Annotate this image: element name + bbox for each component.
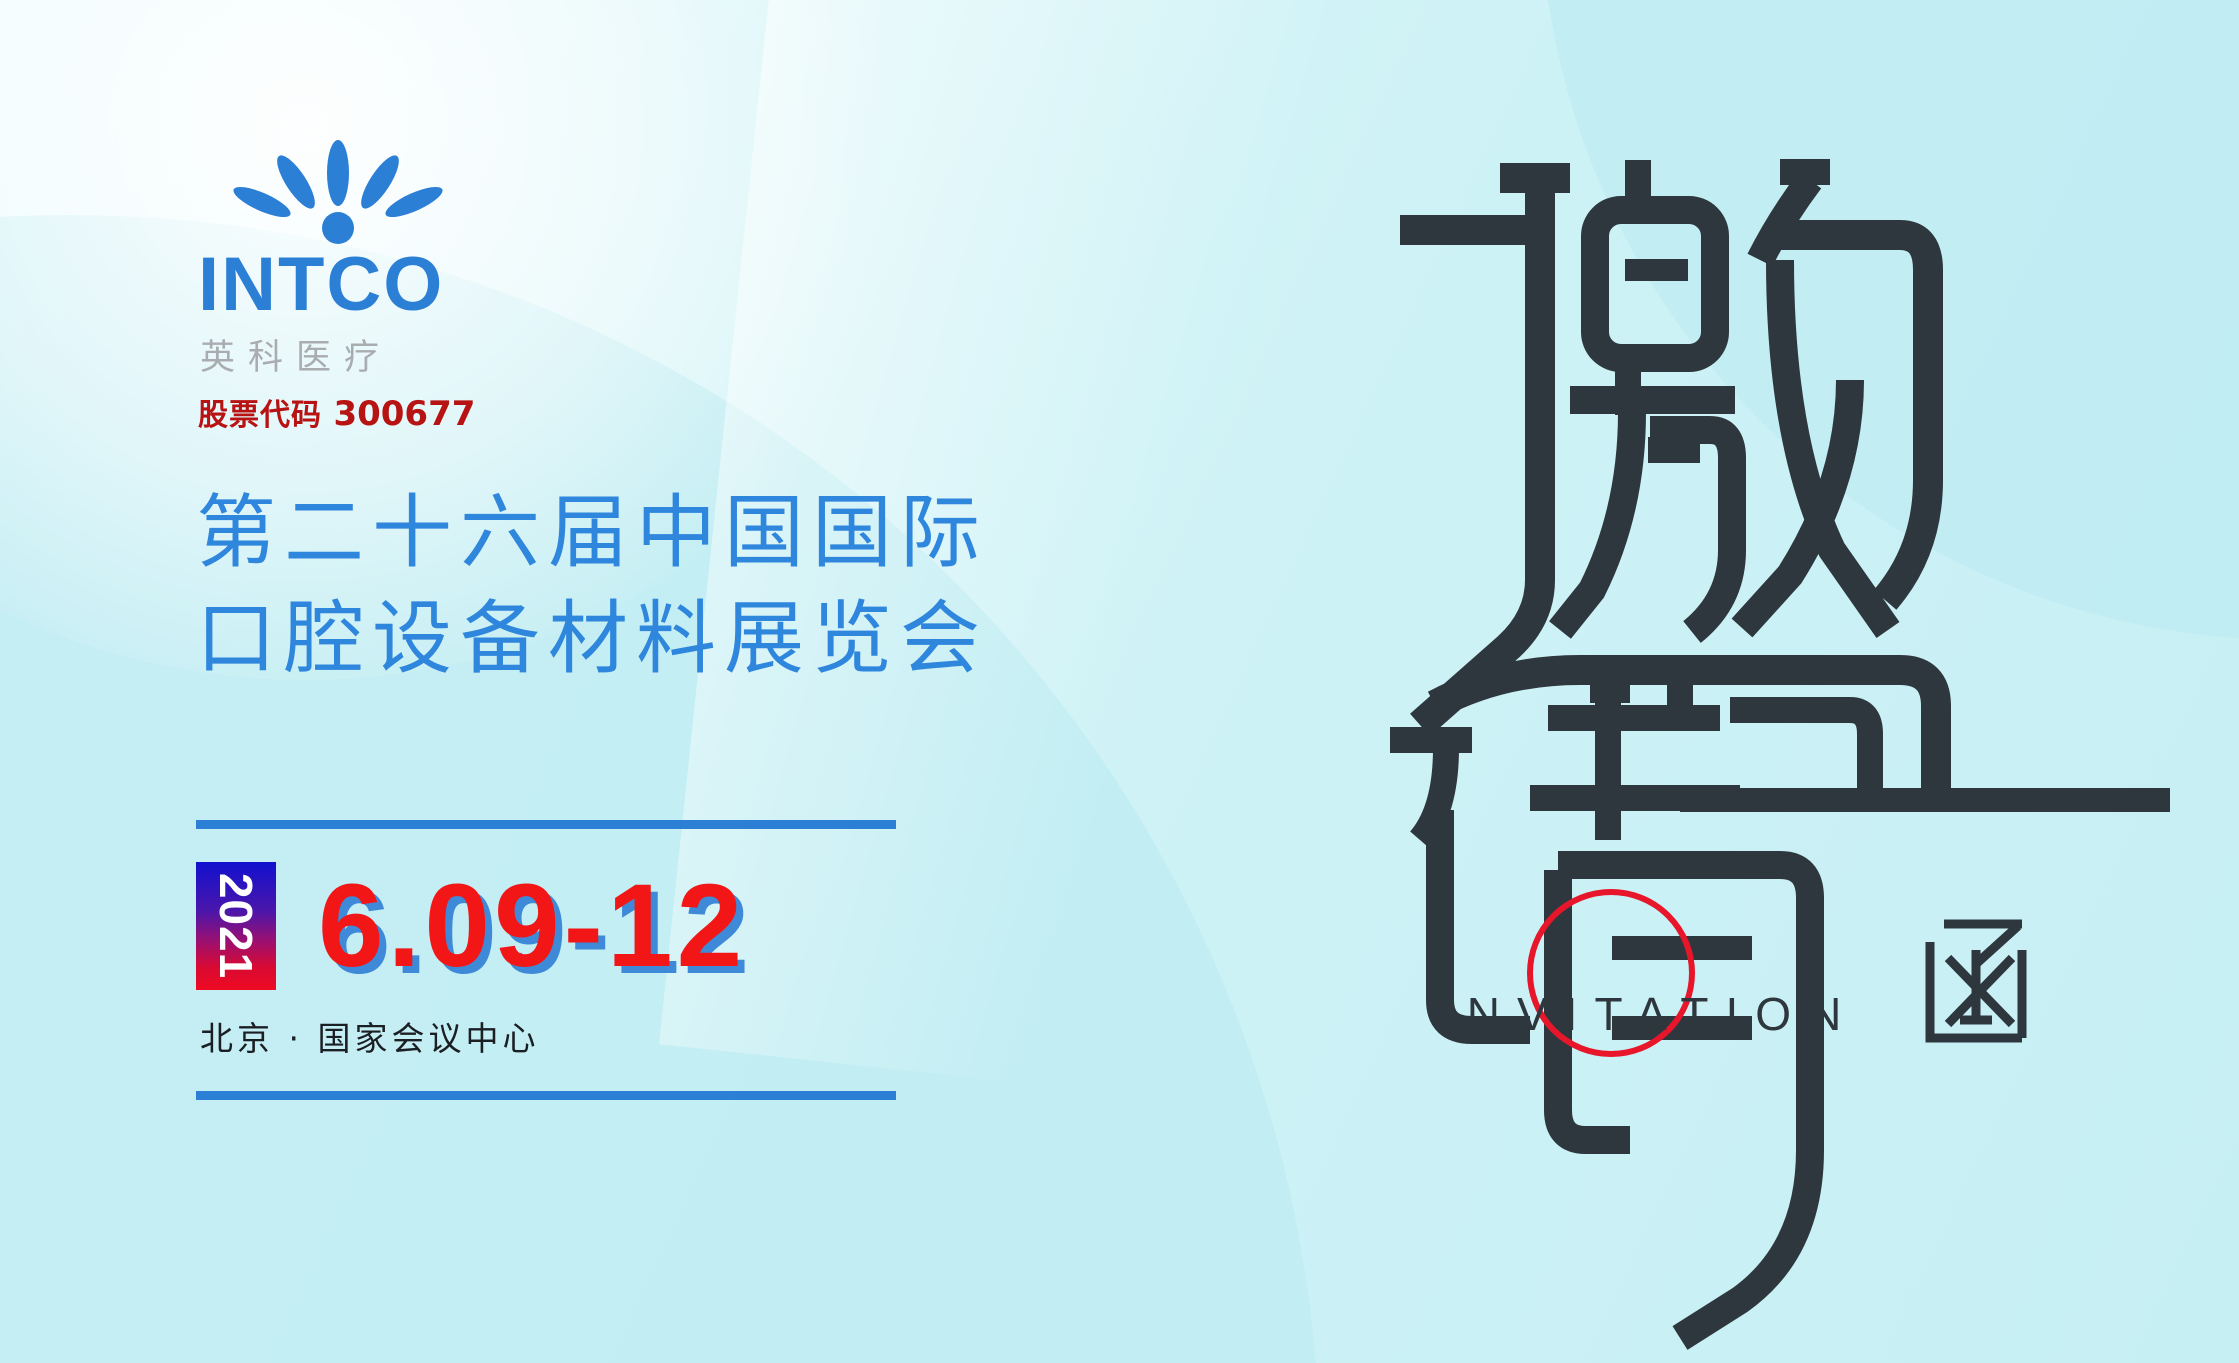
brand-chinese-name: 英科医疗 <box>200 329 526 380</box>
year-badge: 2021 <box>196 862 276 990</box>
event-date-row: 2021 6.09-12 <box>196 862 746 990</box>
year-badge-label: 2021 <box>209 873 263 979</box>
intco-wordmark: INTCO <box>198 249 526 321</box>
stock-code-label: 股票代码 <box>198 398 322 433</box>
page-title: 第二十六届中国国际 口腔设备材料展览会 <box>196 480 1196 691</box>
stock-code-number: 300677 <box>333 394 475 434</box>
divider-bottom <box>196 1091 896 1100</box>
event-date-range: 6.09-12 <box>318 867 746 985</box>
page-title-line-2: 口腔设备材料展览会 <box>196 586 1196 692</box>
page-title-line-1: 第二十六届中国国际 <box>196 480 1196 586</box>
invitation-latin-label: INVITATION <box>1437 987 1858 1041</box>
brand-block: INTCO 英科医疗 股票代码 300677 <box>196 140 526 434</box>
event-venue: 北京 · 国家会议中心 <box>200 1012 539 1060</box>
intco-burst-icon <box>218 140 458 245</box>
left-content-column: INTCO 英科医疗 股票代码 300677 第二十六届中国国际 口腔设备材料展… <box>0 0 1250 1363</box>
divider-top <box>196 820 896 829</box>
stock-code: 股票代码 300677 <box>198 390 526 434</box>
invitation-card: INTCO 英科医疗 股票代码 300677 第二十六届中国国际 口腔设备材料展… <box>0 0 2239 1363</box>
